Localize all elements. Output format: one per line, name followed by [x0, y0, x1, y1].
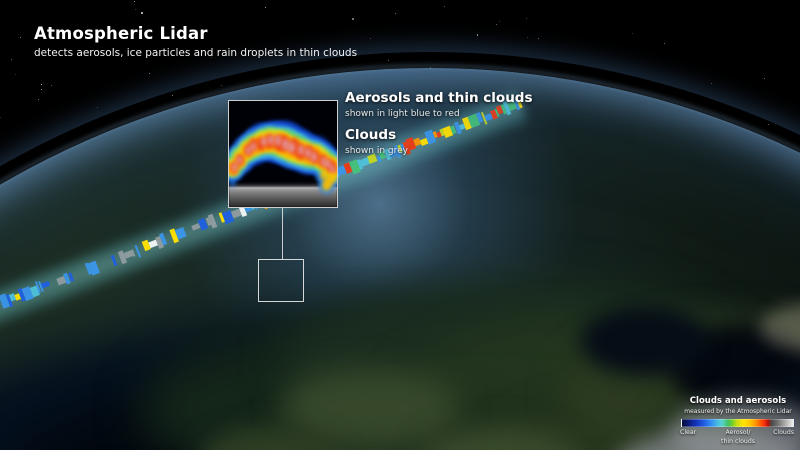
callout-clouds-title: Clouds — [345, 127, 533, 144]
selection-box — [258, 259, 304, 302]
legend-title: Clouds and aerosols — [678, 396, 798, 407]
header: Atmospheric Lidar detects aerosols, ice … — [34, 24, 357, 60]
visualization-canvas: Atmospheric Lidar detects aerosols, ice … — [0, 0, 800, 450]
callout-clouds-subtitle: shown in grey — [345, 145, 533, 157]
callout-leader-line — [282, 208, 283, 259]
page-title: Atmospheric Lidar — [34, 24, 357, 44]
legend-tick-labels: Clear Aerosol/ thin clouds Clouds — [678, 429, 798, 450]
legend-colorbar — [681, 419, 795, 427]
callout-aerosols-title: Aerosols and thin clouds — [345, 90, 533, 107]
lidar-curtain-inset — [228, 100, 338, 208]
legend: Clouds and aerosols measured by the Atmo… — [678, 396, 798, 450]
callout-aerosols-subtitle: shown in light blue to red — [345, 108, 533, 120]
page-subtitle: detects aerosols, ice particles and rain… — [34, 46, 357, 60]
callout-labels: Aerosols and thin clouds shown in light … — [345, 90, 533, 157]
legend-label-clouds: Clouds — [773, 429, 794, 438]
legend-subtitle: measured by the Atmospheric Lidar — [678, 407, 798, 416]
legend-label-aerosol-line2: thin clouds — [678, 438, 798, 447]
